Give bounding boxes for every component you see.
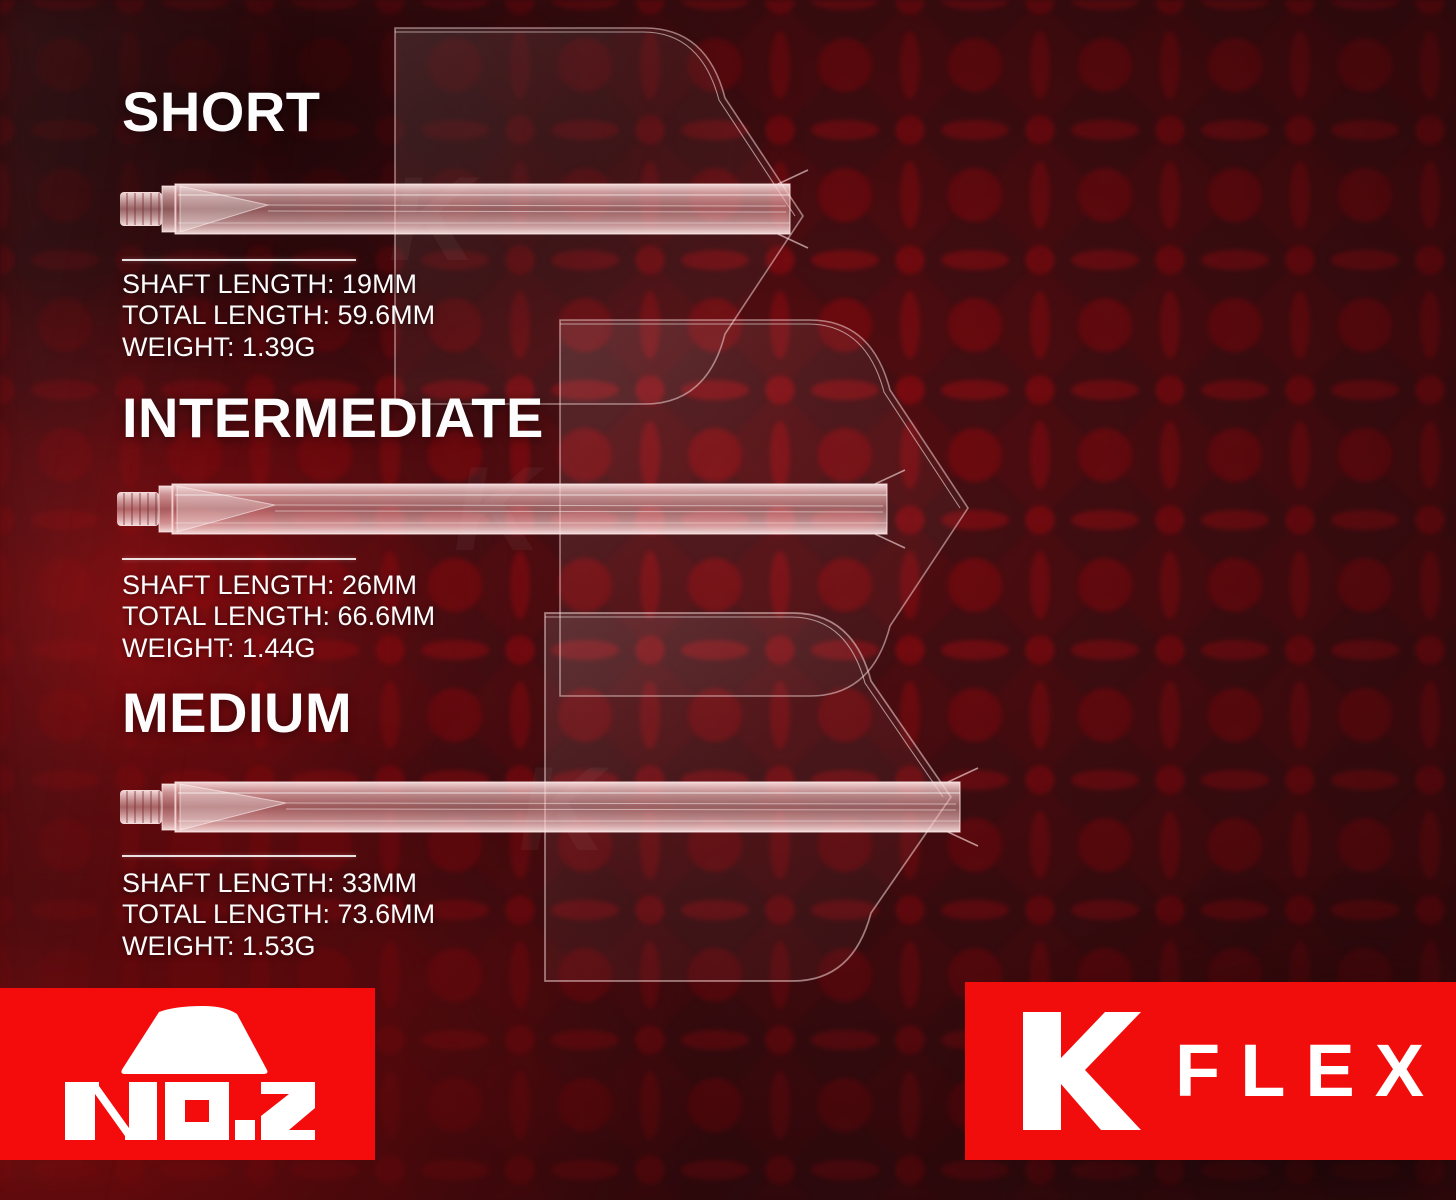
spec-shaft-length-short: SHAFT LENGTH: 19MM (122, 269, 435, 300)
spec-total-length-medium: TOTAL LENGTH: 73.6MM (122, 899, 435, 930)
kflex-flex-label: FLEX (1175, 1034, 1444, 1108)
spec-weight-medium: WEIGHT: 1.53G (122, 931, 435, 962)
spec-divider-intermediate (122, 558, 356, 560)
spec-weight-short: WEIGHT: 1.39G (122, 332, 435, 363)
spec-details-intermediate: SHAFT LENGTH: 26MM TOTAL LENGTH: 66.6MM … (122, 570, 435, 664)
spec-divider-medium (122, 855, 356, 857)
spec-block-intermediate: INTERMEDIATE (122, 390, 544, 446)
spec-total-length-intermediate: TOTAL LENGTH: 66.6MM (122, 601, 435, 632)
spec-title-medium: MEDIUM (122, 685, 352, 741)
spec-weight-intermediate: WEIGHT: 1.44G (122, 633, 435, 664)
spec-total-length-short: TOTAL LENGTH: 59.6MM (122, 300, 435, 331)
spec-details-medium: SHAFT LENGTH: 33MM TOTAL LENGTH: 73.6MM … (122, 868, 435, 962)
spec-title-intermediate: INTERMEDIATE (122, 390, 544, 446)
badge-no2 (0, 988, 375, 1160)
spec-title-short: SHORT (122, 84, 321, 140)
spec-block-short: SHORT (122, 84, 321, 140)
spec-shaft-length-intermediate: SHAFT LENGTH: 26MM (122, 570, 435, 601)
spec-shaft-length-medium: SHAFT LENGTH: 33MM (122, 868, 435, 899)
spec-divider-short (122, 259, 356, 261)
spec-block-medium: MEDIUM (122, 685, 352, 741)
badge-kflex: FLEX (965, 982, 1456, 1160)
no2-logo-icon (53, 1004, 323, 1144)
spec-details-short: SHAFT LENGTH: 19MM TOTAL LENGTH: 59.6MM … (122, 269, 435, 363)
kflex-k-icon (1019, 1006, 1141, 1136)
infographic-canvas: K K K (0, 0, 1456, 1200)
